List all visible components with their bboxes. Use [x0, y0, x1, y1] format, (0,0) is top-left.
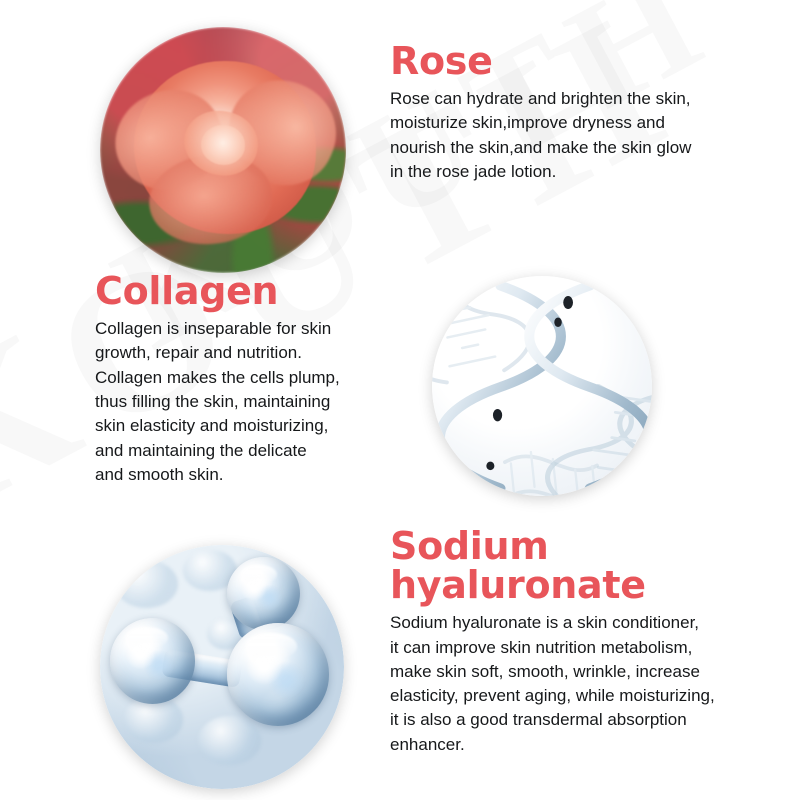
sodium-copy-block: Sodium hyaluronate Sodium hyaluronate is…	[390, 527, 790, 757]
infographic-page: KOUTH KOUTH Rose Rose can hydrate and br…	[0, 0, 800, 800]
collagen-description: Collagen is inseparable for skin growth,…	[95, 317, 425, 487]
molecule-atom-right	[227, 623, 329, 725]
dna-strand-foreground	[463, 280, 621, 491]
water-molecule-photo	[100, 545, 344, 789]
rose-description: Rose can hydrate and brighten the skin, …	[390, 87, 780, 184]
rose-flower-photo	[100, 27, 346, 273]
sodium-description: Sodium hyaluronate is a skin conditioner…	[390, 611, 790, 757]
molecule-atom-left	[110, 618, 195, 703]
rose-heading: Rose	[390, 42, 780, 81]
rose-copy-block: Rose Rose can hydrate and brighten the s…	[390, 42, 780, 184]
sodium-heading: Sodium hyaluronate	[390, 527, 790, 605]
molecule-atom-top	[227, 557, 300, 630]
collagen-heading: Collagen	[95, 272, 425, 311]
dna-double-helix-photo	[432, 276, 652, 496]
collagen-copy-block: Collagen Collagen is inseparable for ski…	[95, 272, 425, 487]
